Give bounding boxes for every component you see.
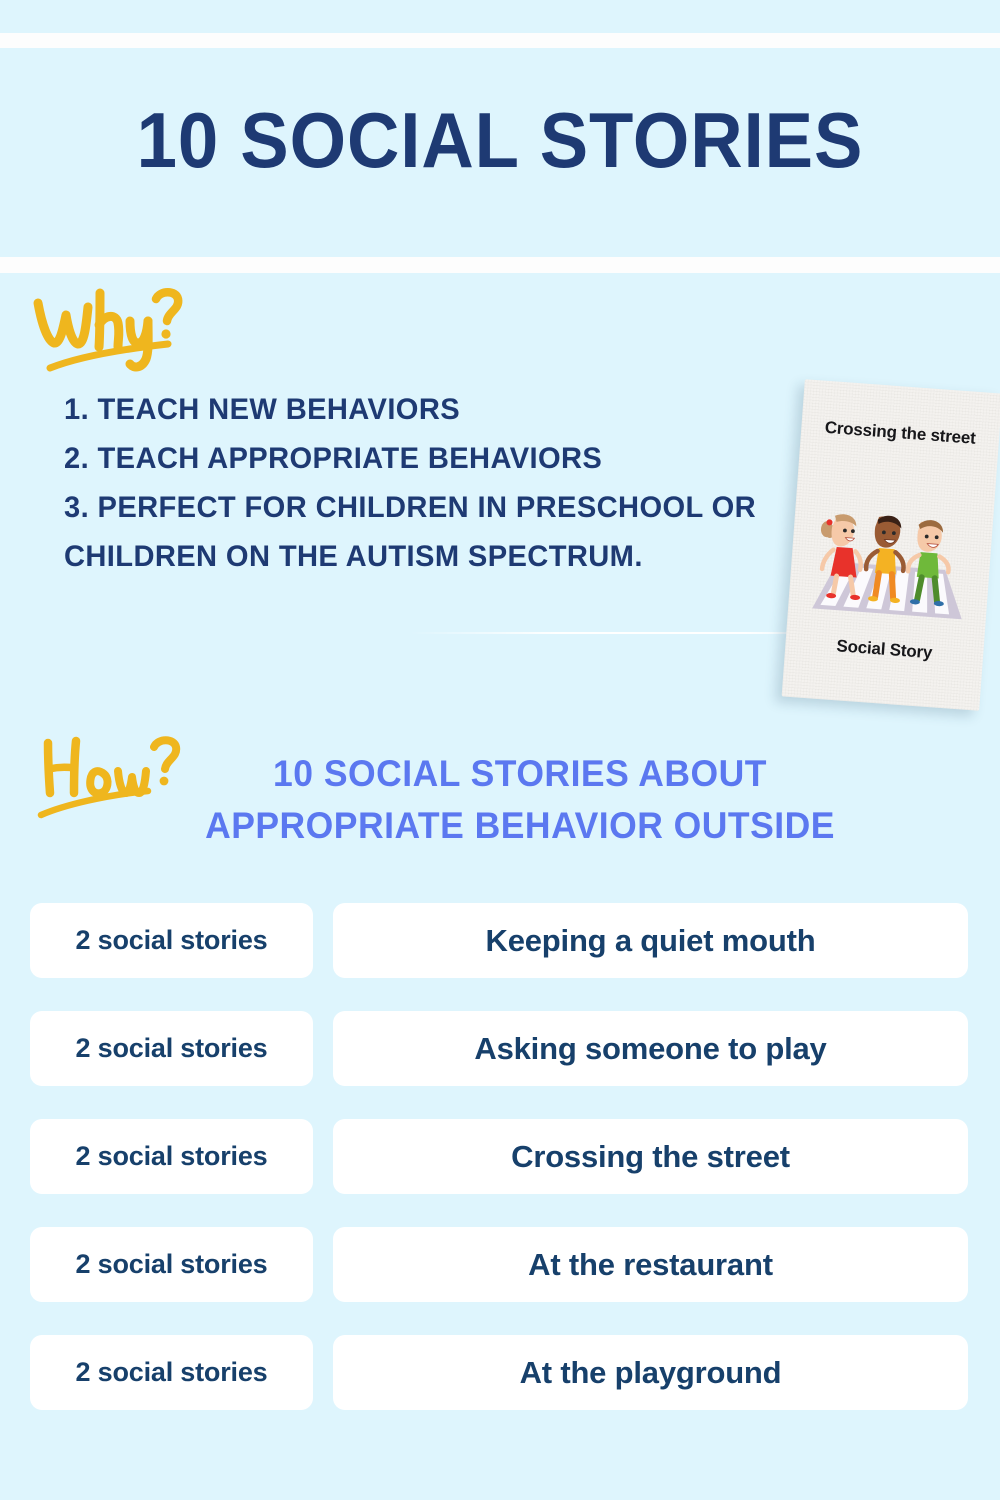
why-item-2: 2. TEACH APPROPRIATE BEHAVIORS <box>64 434 782 483</box>
table-row: 2 social stories Crossing the street <box>0 1119 1000 1227</box>
card-footer: Social Story <box>795 633 974 666</box>
row-count-cell[interactable]: 2 social stories <box>30 903 313 978</box>
how-heading-line-2: APPROPRIATE BEHAVIOR OUTSIDE <box>126 800 913 852</box>
row-topic-cell[interactable]: Keeping a quiet mouth <box>333 903 968 978</box>
how-heading: 10 SOCIAL STORIES ABOUT APPROPRIATE BEHA… <box>126 748 913 852</box>
row-topic-cell[interactable]: Asking someone to play <box>333 1011 968 1086</box>
children-crosswalk-illustration <box>794 487 989 625</box>
why-list: 1. TEACH NEW BEHAVIORS 2. TEACH APPROPRI… <box>64 385 782 581</box>
row-count-cell[interactable]: 2 social stories <box>30 1119 313 1194</box>
story-rows-list: 2 social stories Keeping a quiet mouth 2… <box>0 903 1000 1443</box>
how-heading-line-1: 10 SOCIAL STORIES ABOUT <box>126 748 913 800</box>
why-item-1: 1. TEACH NEW BEHAVIORS <box>64 385 782 434</box>
card-title: Crossing the street <box>811 416 990 451</box>
row-topic-cell[interactable]: At the restaurant <box>333 1227 968 1302</box>
row-topic-cell[interactable]: Crossing the street <box>333 1119 968 1194</box>
top-white-stripe <box>0 33 1000 48</box>
row-count-cell[interactable]: 2 social stories <box>30 1011 313 1086</box>
table-row: 2 social stories At the playground <box>0 1335 1000 1443</box>
table-row: 2 social stories At the restaurant <box>0 1227 1000 1335</box>
row-count-cell[interactable]: 2 social stories <box>30 1227 313 1302</box>
section-divider <box>410 632 830 634</box>
why-item-3: 3. PERFECT FOR CHILDREN IN PRESCHOOL OR … <box>64 483 782 581</box>
why-script-label <box>28 285 188 375</box>
table-row: 2 social stories Asking someone to play <box>0 1011 1000 1119</box>
social-story-card: Crossing the street <box>782 379 1000 711</box>
infographic-page: 10 SOCIAL STORIES 1. TEACH NEW BEHAVIO <box>0 0 1000 1500</box>
table-row: 2 social stories Keeping a quiet mouth <box>0 903 1000 1011</box>
top-band <box>0 0 1000 33</box>
page-title: 10 SOCIAL STORIES <box>35 95 965 186</box>
header-bottom-white-stripe <box>0 257 1000 273</box>
row-count-cell[interactable]: 2 social stories <box>30 1335 313 1410</box>
row-topic-cell[interactable]: At the playground <box>333 1335 968 1410</box>
